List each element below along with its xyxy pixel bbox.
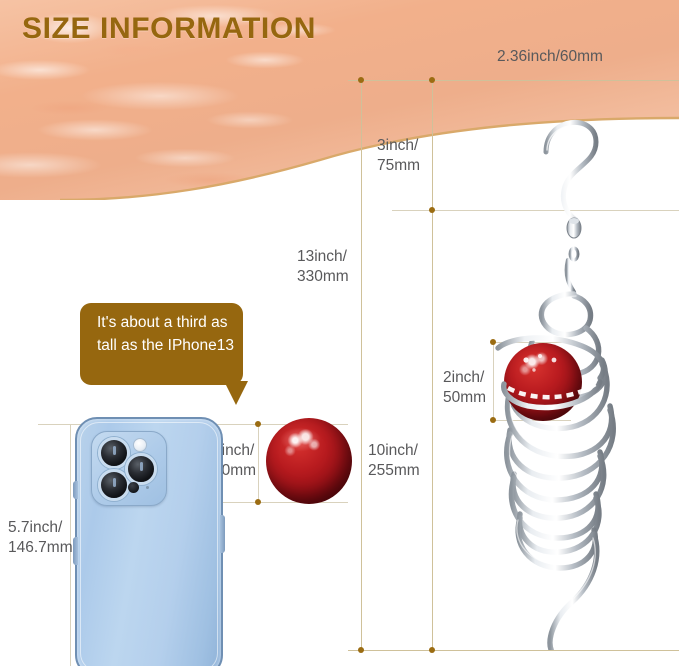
label-ball-diameter-right: 2inch/ 50mm <box>443 368 486 408</box>
label-hook-height: 3inch/ 75mm <box>377 136 420 176</box>
label-phone-height: 5.7inch/ 146.7mm <box>8 518 73 558</box>
dimension-marker-top-outer <box>358 77 364 83</box>
lidar-sensor-icon <box>128 482 139 493</box>
iphone-camera-module <box>91 431 167 506</box>
swivel-connector <box>567 218 581 292</box>
size-information-infographic: SIZE INFORMATION It's about a third as t… <box>0 0 679 666</box>
microphone-icon <box>146 486 149 489</box>
dimension-line-section-split <box>432 80 433 650</box>
dimension-line-ball-bottom-left <box>218 502 348 503</box>
iphone-13-illustration <box>75 417 223 666</box>
spiral-wire-front-overlay <box>490 330 620 440</box>
iphone-volume-button <box>73 537 78 565</box>
label-total-height: 13inch/ 330mm <box>297 247 349 287</box>
dimension-marker-top-inner <box>429 77 435 83</box>
dimension-marker-ball-bottom-left <box>255 499 261 505</box>
iphone-body <box>75 417 223 666</box>
dimension-line-total-height <box>361 80 362 650</box>
iphone-power-button <box>220 515 225 553</box>
red-ball-standalone <box>266 418 352 504</box>
dimension-marker-ball-top-left <box>255 421 261 427</box>
dimension-marker-bottom-outer <box>358 647 364 653</box>
callout-text: It's about a third as tall as the IPhone… <box>97 311 249 357</box>
callout-bubble-tail <box>224 381 248 405</box>
camera-flash-icon <box>133 438 147 452</box>
camera-lens-telephoto <box>125 453 157 485</box>
page-title: SIZE INFORMATION <box>22 12 316 46</box>
dimension-line-bottom <box>348 650 679 651</box>
dimension-marker-bottom-inner <box>429 647 435 653</box>
label-width-top: 2.36inch/60mm <box>497 47 603 67</box>
label-spiral-height: 10inch/ 255mm <box>368 441 420 481</box>
dimension-line-ball-left <box>258 424 259 502</box>
iphone-mute-switch <box>73 481 78 499</box>
dimension-marker-mid-inner <box>429 207 435 213</box>
s-hook-icon <box>546 122 596 220</box>
